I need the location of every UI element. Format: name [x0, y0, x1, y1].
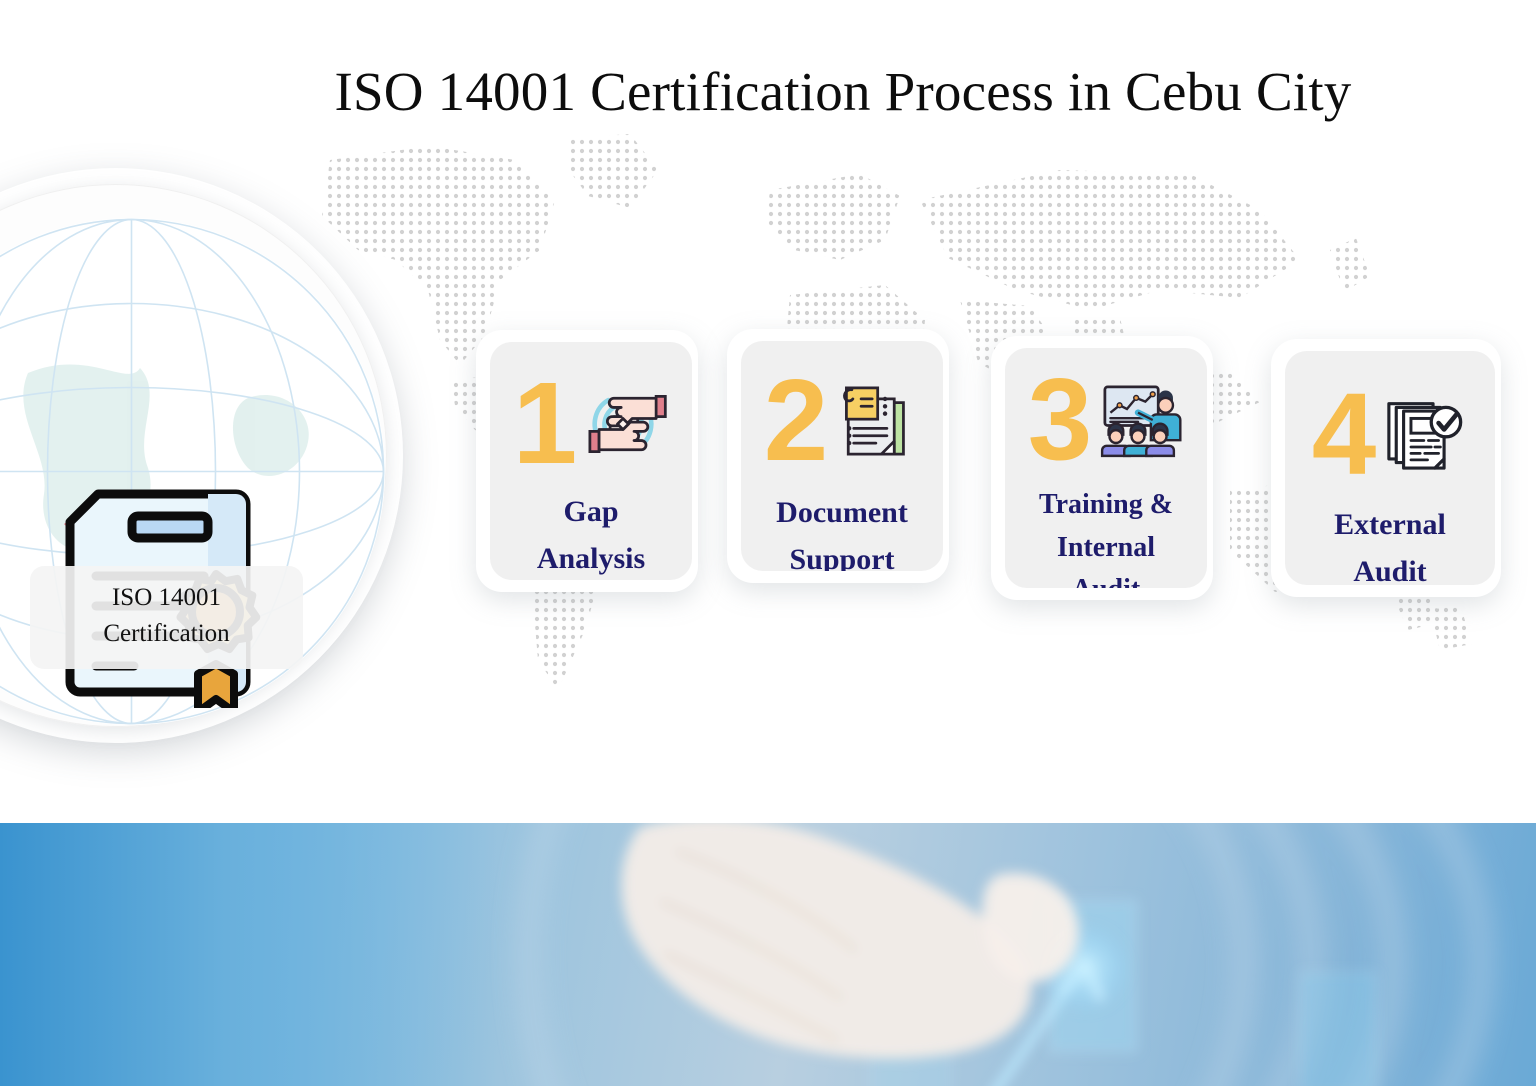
step-card-2-body: 2	[741, 341, 943, 571]
documents-notes-icon	[828, 375, 920, 467]
label-line: Gap	[498, 488, 684, 535]
step-card-2[interactable]: 2	[727, 329, 949, 583]
step-4-label: ExternalAudit	[1293, 501, 1487, 585]
label-line: Document	[749, 489, 935, 536]
step-2-header: 2	[741, 361, 943, 481]
step-1-header: 1	[490, 364, 692, 484]
iso-label-line-2: Certification	[40, 616, 293, 652]
step-card-3-body: 3	[1005, 348, 1207, 588]
step-3-number: 3	[1028, 370, 1089, 470]
documents-check-icon	[1376, 389, 1468, 481]
training-presentation-icon	[1092, 374, 1184, 466]
iso-label-line-1: ISO 14001	[40, 580, 293, 616]
bottom-banner: Vertex Certifiers Achieve your certifica…	[0, 823, 1536, 1086]
hand-touching-glowing-blue-arrow-chart	[0, 823, 1536, 1086]
globe-emblem: ISO 14001 Certification	[0, 168, 403, 743]
step-card-3[interactable]: 3	[991, 336, 1213, 600]
step-card-4-body: 4	[1285, 351, 1495, 585]
page-title: ISO 14001 Certification Process in Cebu …	[0, 60, 1536, 123]
label-line: Internal	[1013, 527, 1199, 570]
label-line: Audit	[1293, 548, 1487, 585]
label-line: Analysis	[498, 535, 684, 580]
iso-certification-label: ISO 14001 Certification	[30, 566, 303, 669]
label-line: Support	[749, 536, 935, 571]
step-1-label: GapAnalysis	[498, 488, 684, 580]
step-2-label: DocumentSupport	[749, 489, 935, 571]
step-4-header: 4	[1285, 375, 1495, 495]
step-card-1[interactable]: 1 GapAnalysis	[476, 330, 698, 592]
label-line: External	[1293, 501, 1487, 548]
label-line: Audit	[1013, 569, 1199, 588]
step-card-4[interactable]: 4	[1271, 339, 1501, 597]
step-3-header: 3	[1005, 360, 1207, 480]
step-1-number: 1	[513, 374, 574, 474]
step-3-label: Training &InternalAudit	[1013, 484, 1199, 588]
step-4-number: 4	[1312, 385, 1373, 485]
step-card-1-body: 1 GapAnalysis	[490, 342, 692, 580]
label-line: Training &	[1013, 484, 1199, 527]
handshake-partnership-icon	[577, 378, 669, 470]
step-2-number: 2	[764, 371, 825, 471]
infographic-top-section: ISO 14001 Certification Process in Cebu …	[0, 0, 1536, 823]
